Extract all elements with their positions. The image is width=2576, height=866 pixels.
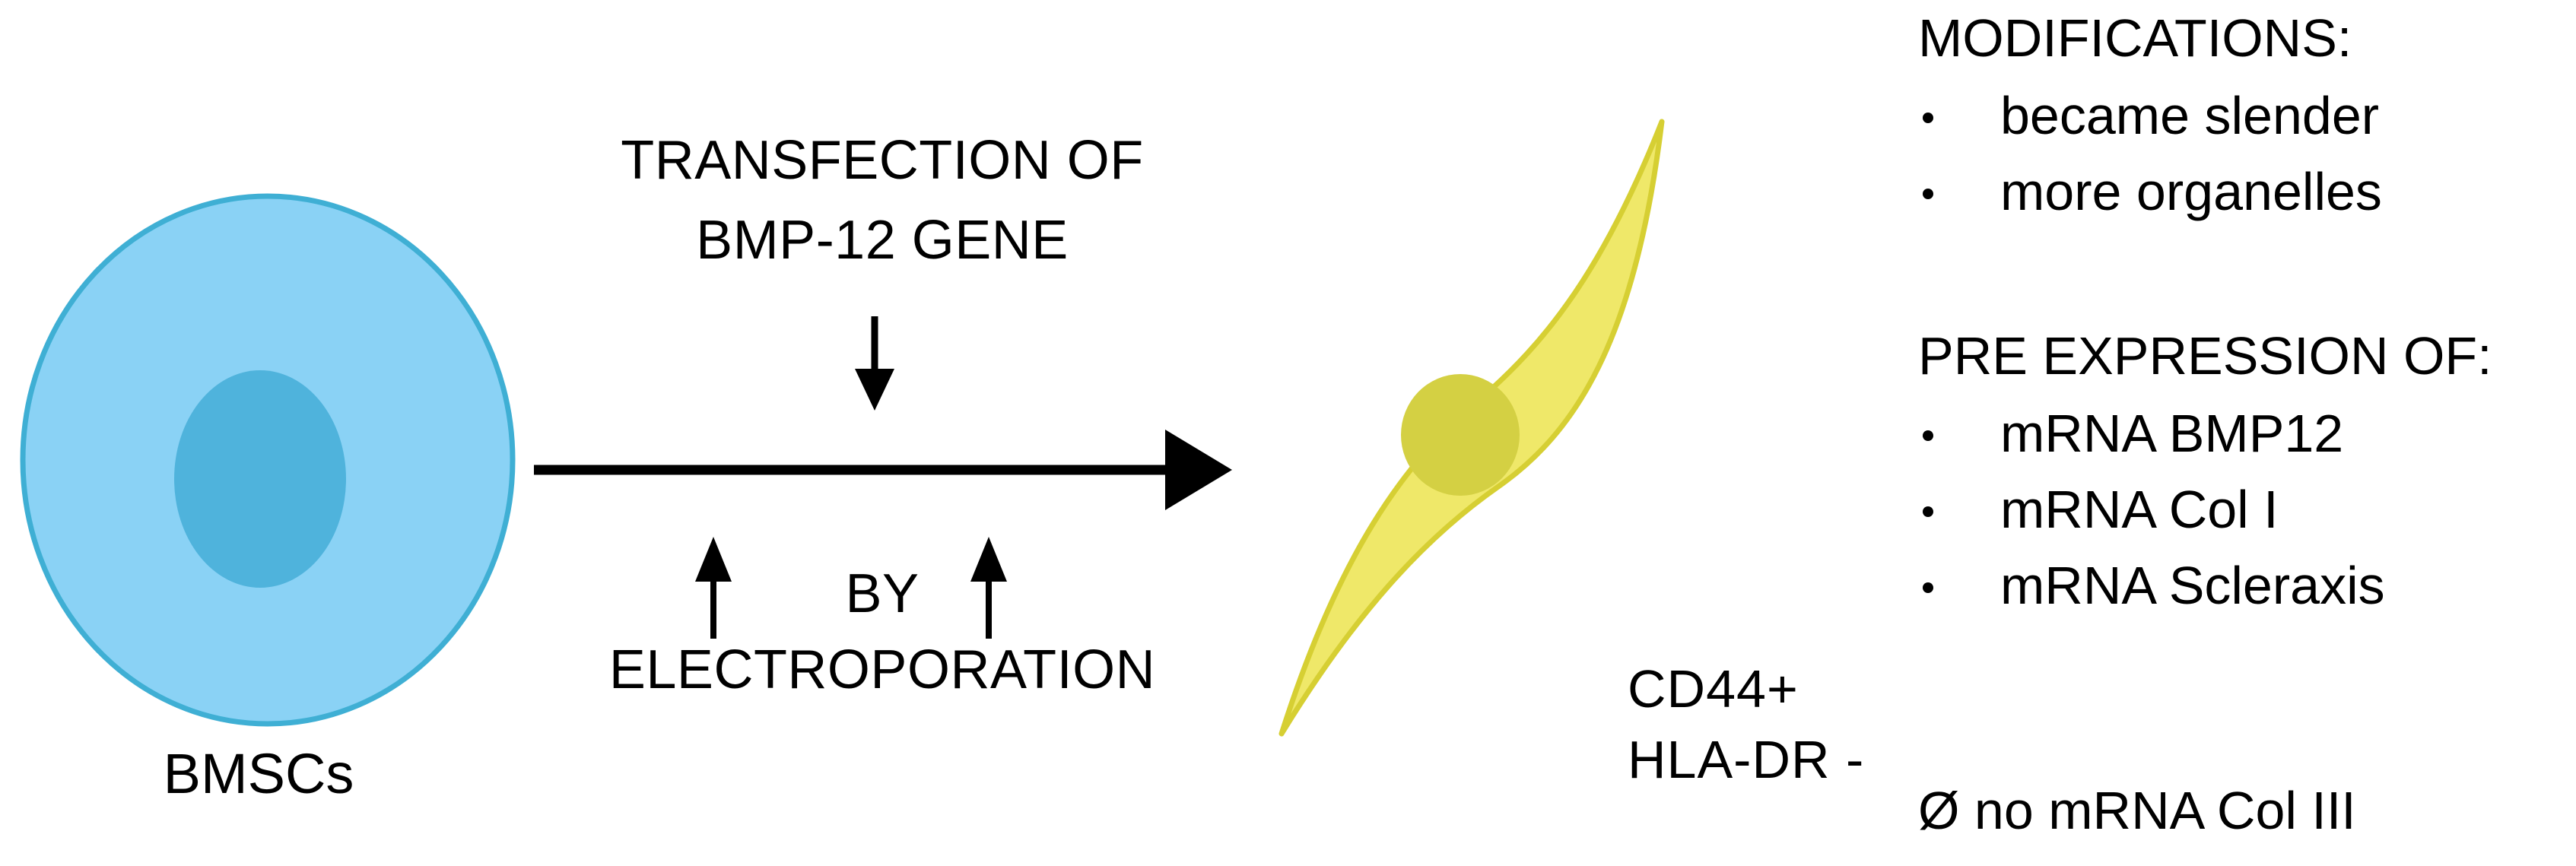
- bullet-dot-icon: [1923, 189, 1933, 199]
- bullet-dot-icon: [1923, 506, 1933, 517]
- expression-item-0: mRNA BMP12: [2000, 403, 2343, 464]
- process-method-line-1: BY: [502, 563, 1263, 625]
- no-col-iii-note: Ø no mRNA Col III: [1918, 780, 2356, 841]
- list-item: mRNA Col I: [1918, 479, 2576, 547]
- bullet-dot-icon: [1923, 430, 1933, 441]
- expression-heading: PRE EXPRESSION OF:: [1918, 325, 2492, 386]
- bullet-dot-icon: [1923, 113, 1933, 123]
- process-arrows: [502, 106, 1263, 866]
- bmsc-nucleus: [174, 370, 346, 588]
- transfected-cell-group: CD44+ HLA-DR -: [1247, 91, 1795, 776]
- transfection-arrow-icon: [534, 430, 1232, 510]
- bmsc-cell-illustration: [0, 175, 532, 753]
- notes-panel: MODIFICATIONS: became slender more organ…: [1918, 0, 2576, 866]
- list-item: became slender: [1918, 85, 2576, 154]
- modification-item-0: became slender: [2000, 85, 2379, 146]
- list-item: mRNA BMP12: [1918, 403, 2576, 471]
- expression-item-2: mRNA Scleraxis: [2000, 555, 2385, 616]
- down-arrow-icon: [855, 316, 894, 411]
- bmsc-cell-label: BMSCs: [0, 741, 517, 806]
- expression-item-1: mRNA Col I: [2000, 479, 2279, 540]
- transfection-process-group: TRANSFECTION OF BMP-12 GENE: [502, 106, 1263, 866]
- modification-item-1: more organelles: [2000, 161, 2382, 222]
- bmsc-cell-group: BMSCs: [0, 175, 532, 866]
- bullet-dot-icon: [1923, 582, 1933, 593]
- figure-canvas: BMSCs TRANSFECTION OF BMP-12 GENE: [0, 0, 2576, 866]
- modifications-heading: MODIFICATIONS:: [1918, 8, 2352, 68]
- list-item: more organelles: [1918, 161, 2576, 230]
- transfected-cell-nucleus: [1401, 374, 1520, 496]
- list-item: mRNA Scleraxis: [1918, 555, 2576, 623]
- process-method-line-2: ELECTROPORATION: [502, 639, 1263, 701]
